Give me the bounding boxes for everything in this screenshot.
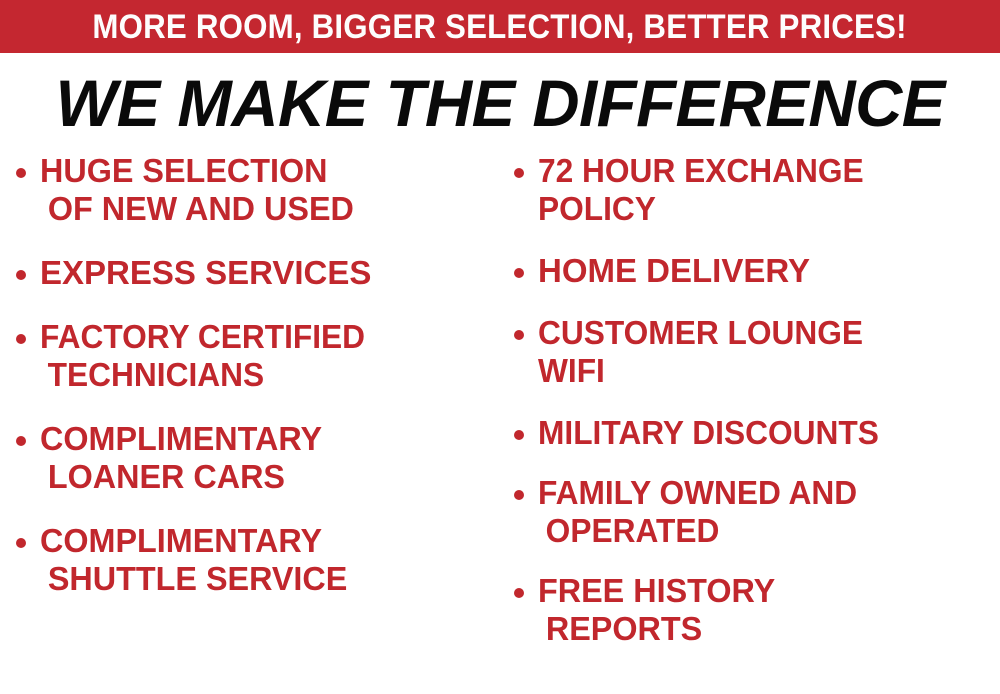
list-item: CUSTOMER LOUNGE WIFI [514, 314, 1000, 390]
list-item-line: WIFI [538, 352, 982, 390]
bullet-dot-icon [514, 430, 524, 440]
list-item-text: CUSTOMER LOUNGE WIFI [538, 314, 982, 390]
list-item-line: SHUTTLE SERVICE [40, 560, 489, 598]
list-item-line: COMPLIMENTARY [40, 420, 489, 458]
list-item-line: CUSTOMER LOUNGE [538, 314, 982, 352]
bullet-dot-icon [514, 330, 524, 340]
top-banner: MORE ROOM, BIGGER SELECTION, BETTER PRIC… [0, 0, 1000, 53]
list-item-text: 72 HOUR EXCHANGE POLICY [538, 152, 982, 228]
list-item: 72 HOUR EXCHANGE POLICY [514, 152, 1000, 228]
bullet-dot-icon [514, 588, 524, 598]
bullet-dot-icon [514, 490, 524, 500]
bullet-dot-icon [16, 270, 26, 280]
list-item: COMPLIMENTARY SHUTTLE SERVICE [16, 522, 498, 598]
list-item-line: OF NEW AND USED [40, 190, 489, 228]
list-item-text: MILITARY DISCOUNTS [538, 414, 982, 452]
bullet-dot-icon [514, 268, 524, 278]
list-item-text: HOME DELIVERY [538, 252, 1000, 290]
benefits-columns: HUGE SELECTION OF NEW AND USED EXPRESS S… [0, 152, 1000, 694]
benefits-column-left: HUGE SELECTION OF NEW AND USED EXPRESS S… [0, 152, 500, 598]
list-item-line: EXPRESS SERVICES [40, 254, 498, 292]
bullet-dot-icon [16, 436, 26, 446]
list-item: HOME DELIVERY [514, 252, 1000, 290]
list-item: FAMILY OWNED AND OPERATED [514, 474, 1000, 550]
list-item-text: FREE HISTORY REPORTS [538, 572, 991, 648]
bullet-dot-icon [514, 168, 524, 178]
list-item-line: MILITARY DISCOUNTS [538, 414, 982, 452]
list-item-line: FACTORY CERTIFIED [40, 318, 480, 356]
list-item-line: REPORTS [538, 610, 991, 648]
list-item-text: COMPLIMENTARY SHUTTLE SERVICE [40, 522, 489, 598]
list-item-line: OPERATED [538, 512, 982, 550]
list-item-line: 72 HOUR EXCHANGE [538, 152, 982, 190]
list-item: HUGE SELECTION OF NEW AND USED [16, 152, 498, 228]
list-item-text: HUGE SELECTION OF NEW AND USED [40, 152, 489, 228]
list-item: EXPRESS SERVICES [16, 254, 498, 292]
list-item-text: FACTORY CERTIFIED TECHNICIANS [40, 318, 480, 394]
list-item-line: POLICY [538, 190, 982, 228]
list-item-text: EXPRESS SERVICES [40, 254, 498, 292]
bullet-dot-icon [16, 334, 26, 344]
list-item-line: FREE HISTORY [538, 572, 991, 610]
list-item-line: COMPLIMENTARY [40, 522, 489, 560]
list-item-line: TECHNICIANS [40, 356, 480, 394]
list-item: MILITARY DISCOUNTS [514, 414, 1000, 452]
list-item: FREE HISTORY REPORTS [514, 572, 1000, 648]
list-item-line: HOME DELIVERY [538, 252, 1000, 290]
page-title: WE MAKE THE DIFFERENCE [55, 68, 944, 138]
benefits-column-right: 72 HOUR EXCHANGE POLICY HOME DELIVERY CU… [500, 152, 1000, 648]
list-item: FACTORY CERTIFIED TECHNICIANS [16, 318, 498, 394]
headline-container: WE MAKE THE DIFFERENCE [0, 58, 1000, 148]
list-item-line: HUGE SELECTION [40, 152, 489, 190]
bullet-dot-icon [16, 538, 26, 548]
list-item-line: LOANER CARS [40, 458, 489, 496]
list-item: COMPLIMENTARY LOANER CARS [16, 420, 498, 496]
promo-poster: MORE ROOM, BIGGER SELECTION, BETTER PRIC… [0, 0, 1000, 694]
bullet-dot-icon [16, 168, 26, 178]
list-item-line: FAMILY OWNED AND [538, 474, 982, 512]
list-item-text: COMPLIMENTARY LOANER CARS [40, 420, 489, 496]
banner-headline-text: MORE ROOM, BIGGER SELECTION, BETTER PRIC… [93, 10, 907, 44]
list-item-text: FAMILY OWNED AND OPERATED [538, 474, 982, 550]
